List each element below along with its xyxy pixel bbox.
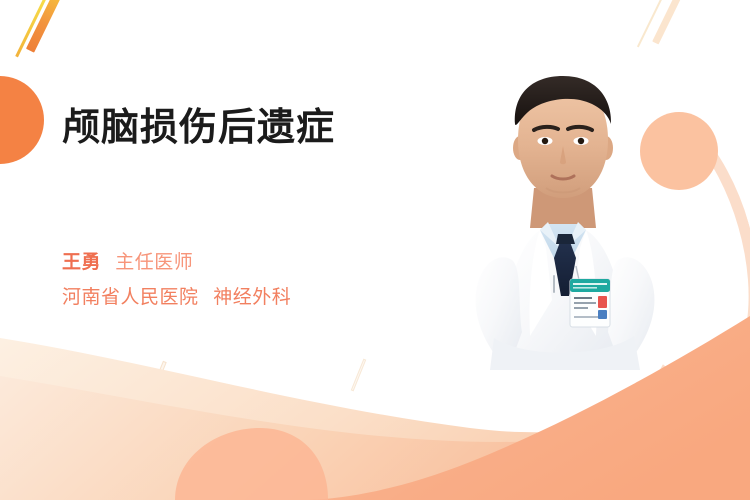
faint-diagonal-stripe-thick-icon [652, 0, 685, 44]
orange-circle-icon [0, 76, 44, 164]
doctor-portrait-photo [448, 70, 678, 370]
department-name: 神经外科 [213, 287, 291, 308]
doctor-affiliation-row: 河南省人民医院 神经外科 [62, 283, 482, 312]
doctor-intro-slide: 颅脑损伤后遗症 王勇 主任医师 河南省人民医院 神经外科 [0, 0, 750, 500]
orange-diagonal-stripe-icon [26, 0, 63, 53]
page-title: 颅脑损伤后遗症 [62, 108, 462, 150]
faint-diagonal-stripe-icon [637, 0, 665, 47]
title-block: 颅脑损伤后遗症 [62, 108, 462, 150]
doctor-professional-title: 主任医师 [115, 252, 193, 273]
doctor-name-row: 王勇 主任医师 [62, 248, 482, 277]
hospital-name: 河南省人民医院 [62, 287, 199, 308]
doctor-name: 王勇 [62, 252, 101, 273]
doctor-credentials-block: 王勇 主任医师 河南省人民医院 神经外科 [62, 248, 482, 313]
yellow-diagonal-stripe-icon [15, 0, 47, 57]
